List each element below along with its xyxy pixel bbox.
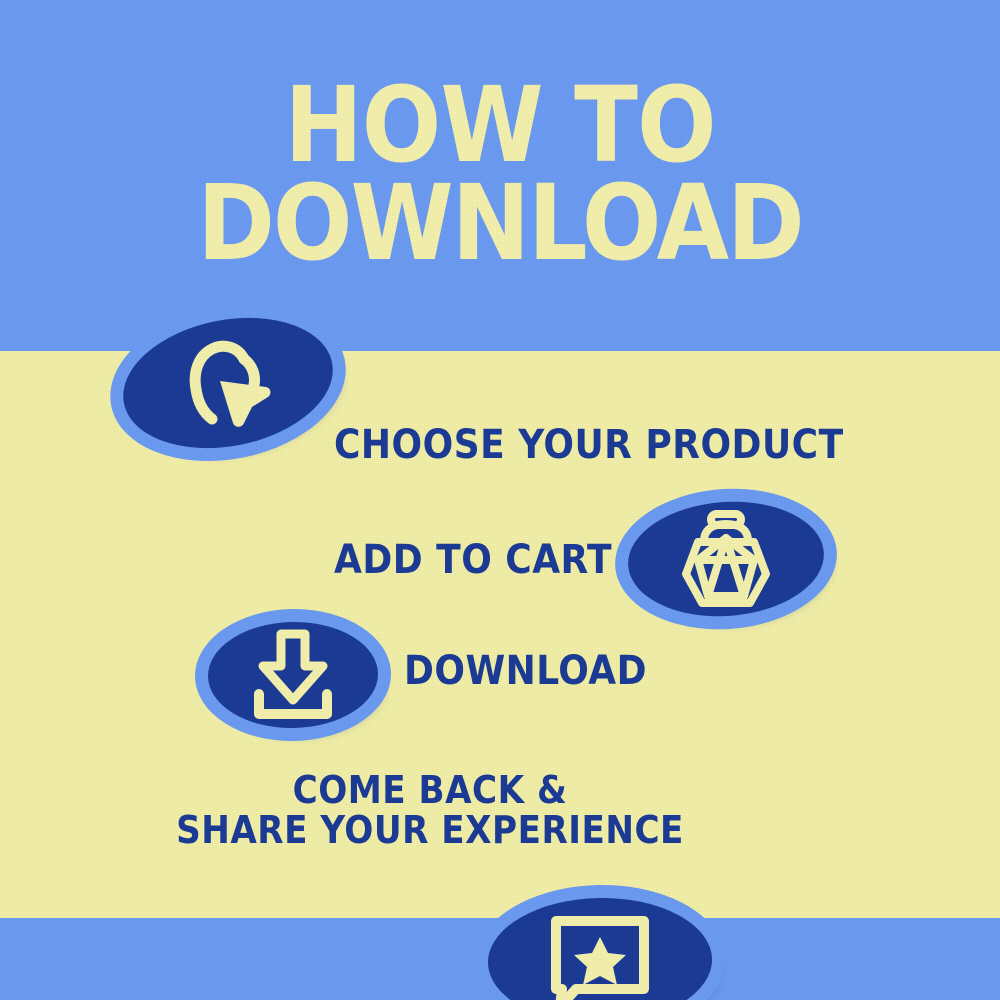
step-label-share-experience: COME BACK & SHARE YOUR EXPERIENCE bbox=[0, 770, 860, 851]
page-title-line-1: HOW TO bbox=[0, 78, 1000, 174]
cursor-click-icon bbox=[174, 335, 282, 431]
download-arrow-icon bbox=[247, 628, 339, 722]
step-label-download: DOWNLOAD bbox=[404, 650, 647, 692]
step-label-add-to-cart: ADD TO CART bbox=[334, 539, 612, 581]
step-label-share-line-1: COME BACK & bbox=[293, 768, 568, 812]
page-title-line-2: DOWNLOAD bbox=[0, 176, 1000, 272]
poster-canvas: HOW TO DOWNLOAD CHOOSE YOUR PRODUCT ADD … bbox=[0, 0, 1000, 1000]
step-label-share-line-2: SHARE YOUR EXPERIENCE bbox=[0, 810, 860, 850]
review-star-bubble-icon bbox=[542, 909, 658, 1000]
step-label-choose-product: CHOOSE YOUR PRODUCT bbox=[334, 424, 844, 466]
shopping-bag-icon bbox=[674, 508, 778, 610]
